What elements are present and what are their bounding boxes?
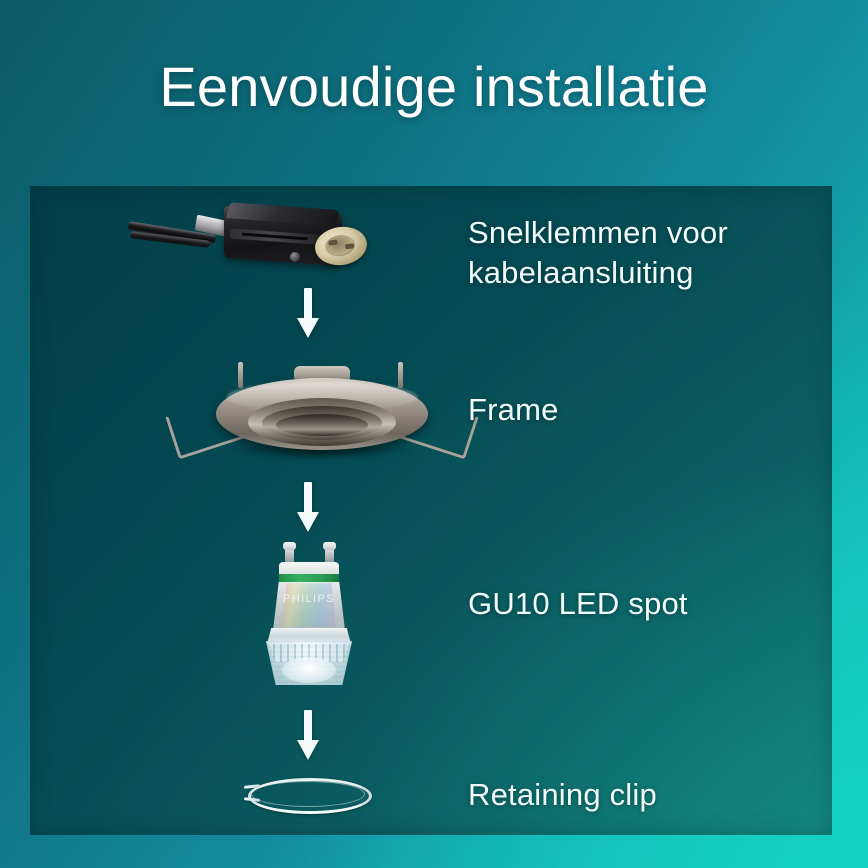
arrow-shaft: [304, 288, 312, 320]
gu10-led-lamp-image: PHILIPS: [248, 545, 372, 685]
down-arrow-icon-1: [297, 288, 319, 338]
gu10-pin-head-left: [283, 542, 296, 550]
down-arrow-icon-2: [297, 482, 319, 532]
page-title: Eenvoudige installatie: [0, 58, 868, 117]
arrow-shaft: [304, 482, 312, 514]
frame-post-right: [398, 362, 403, 388]
step-label-retaining-clip: Retaining clip: [468, 775, 798, 815]
installation-poster: Eenvoudige installatie Snelklemmen voor …: [0, 0, 868, 868]
arrow-head: [297, 512, 319, 532]
terminal-block-connector-image: [130, 192, 380, 292]
frame-reflector-core: [276, 414, 368, 436]
gu10-pin-head-right: [323, 542, 336, 550]
lamp-lens-center: [282, 657, 336, 683]
arrow-head: [297, 740, 319, 760]
frame-post-left: [238, 362, 243, 388]
recessed-downlight-frame-image: [176, 362, 466, 468]
arrow-shaft: [304, 710, 312, 742]
step-label-frame: Frame: [468, 390, 798, 430]
arrow-head: [297, 318, 319, 338]
retaining-clip-image: [238, 772, 378, 820]
clip-ring-inner: [251, 781, 365, 807]
step-label-gu10-led-spot: GU10 LED spot: [468, 584, 798, 624]
step-label-terminal-block: Snelklemmen voor kabelaansluiting: [468, 213, 798, 292]
lamp-brand-text: PHILIPS: [276, 593, 342, 605]
connector-screw: [290, 252, 300, 262]
lamp-green-band: [279, 574, 339, 583]
down-arrow-icon-3: [297, 710, 319, 760]
steps-panel: Snelklemmen voor kabelaansluiting Frame: [30, 186, 832, 835]
lamp-iridescent-sheen: [282, 583, 336, 627]
